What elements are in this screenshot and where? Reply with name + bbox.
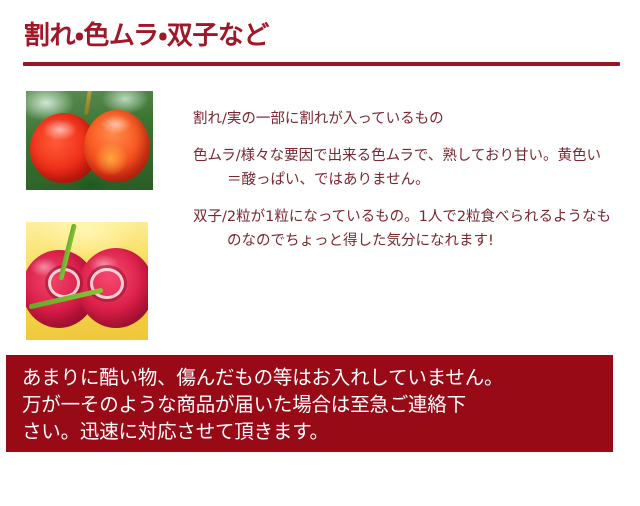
notice-banner: あまりに酷い物、傷んだもの等はお入れしていません。 万が一そのような商品が届いた… (6, 355, 613, 452)
product-info-slide: 割れ・色ムラ・双子など 割れ/実の一部に割れが入っているもの 色ムラ/様々な要因… (0, 0, 640, 506)
cracked-cherries-photo (26, 91, 153, 190)
content-area: 割れ/実の一部に割れが入っているもの 色ムラ/様々な要因で出来る色ムラで、熟して… (0, 70, 640, 350)
description-crack: 割れ/実の一部に割れが入っているもの (193, 108, 613, 131)
notice-line-2: 万が一そのような商品が届いた場合は至急ご連絡下 (22, 392, 603, 419)
title-divider (23, 62, 620, 66)
twin-cherries-photo (26, 222, 148, 340)
notice-line-3: さい。迅速に対応させて頂きます。 (22, 419, 603, 446)
description-color-unevenness: 色ムラ/様々な要因で出来る色ムラで、熟しており甘い。黄色い＝酸っぱい、ではありま… (193, 145, 613, 192)
color-unevenness-blotch (94, 143, 128, 175)
description-list: 割れ/実の一部に割れが入っているもの 色ムラ/様々な要因で出来る色ムラで、熟して… (193, 108, 613, 267)
notice-text: あまりに酷い物、傷んだもの等はお入れしていません。 万が一そのような商品が届いた… (22, 365, 603, 446)
description-twin: 双子/2粒が1粒になっているもの。1人で2粒食べられるようなものなのでちょっと得… (193, 206, 613, 253)
notice-line-1: あまりに酷い物、傷んだもの等はお入れしていません。 (22, 365, 603, 392)
page-header: 割れ・色ムラ・双子など (0, 0, 640, 70)
page-title: 割れ・色ムラ・双子など (24, 22, 269, 52)
